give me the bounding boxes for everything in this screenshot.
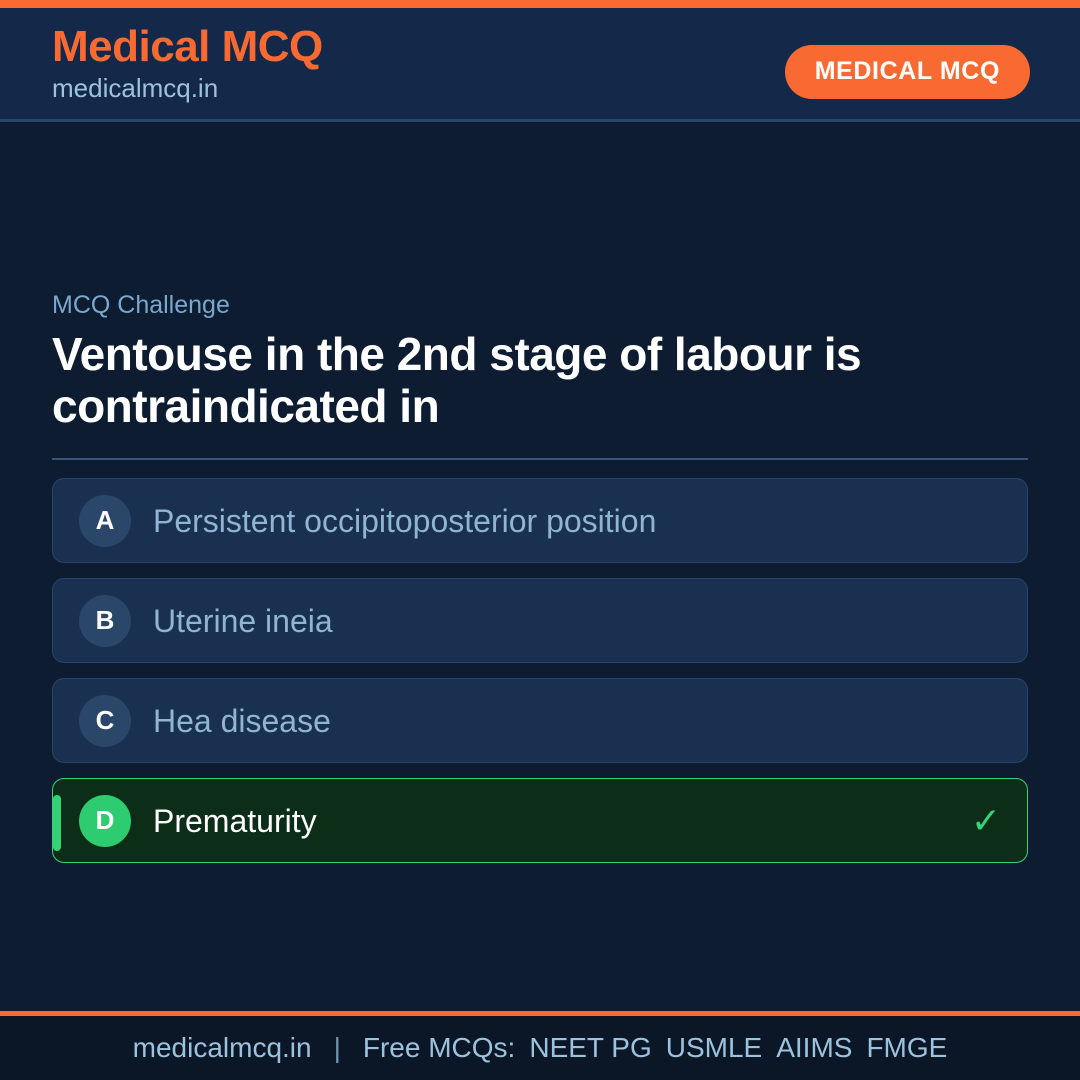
header-bar: Medical MCQ medicalmcq.in MEDICAL MCQ — [0, 8, 1080, 120]
header-badge: MEDICAL MCQ — [785, 45, 1030, 99]
footer-exam-fmge: FMGE — [866, 1031, 947, 1065]
mcq-card: Medical MCQ medicalmcq.in MEDICAL MCQ MC… — [0, 0, 1080, 1080]
option-d[interactable]: D Prematurity ✓ — [52, 778, 1028, 863]
option-letter-badge: D — [79, 795, 131, 847]
option-a[interactable]: A Persistent occipitoposterior position — [52, 478, 1028, 563]
brand-subtitle: medicalmcq.in — [52, 72, 323, 104]
footer-site: medicalmcq.in — [133, 1031, 312, 1065]
footer-label: Free MCQs: — [363, 1031, 515, 1065]
footer-exam-aiims: AIIMS — [776, 1031, 852, 1065]
option-text: Hea disease — [153, 702, 1001, 740]
footer-bar: medicalmcq.in | Free MCQs: NEET PG USMLE… — [0, 1016, 1080, 1080]
brand-title: Medical MCQ — [52, 22, 323, 72]
question-divider — [52, 458, 1028, 460]
eyebrow-label: MCQ Challenge — [52, 290, 1028, 320]
correct-accent-bar — [53, 795, 61, 851]
options-list: A Persistent occipitoposterior position … — [52, 478, 1028, 878]
footer-exam-usmle: USMLE — [666, 1031, 762, 1065]
footer-content: medicalmcq.in | Free MCQs: NEET PG USMLE… — [133, 1031, 948, 1065]
header-divider — [0, 119, 1080, 122]
option-c[interactable]: C Hea disease — [52, 678, 1028, 763]
question-block: MCQ Challenge Ventouse in the 2nd stage … — [52, 290, 1028, 460]
option-text: Uterine ineia — [153, 602, 1001, 640]
option-letter-badge: A — [79, 495, 131, 547]
check-icon: ✓ — [971, 803, 1001, 839]
brand-block: Medical MCQ medicalmcq.in — [52, 22, 323, 104]
footer-exam-neet-pg: NEET PG — [529, 1031, 651, 1065]
option-b[interactable]: B Uterine ineia — [52, 578, 1028, 663]
option-letter-badge: C — [79, 695, 131, 747]
option-letter-badge: B — [79, 595, 131, 647]
option-text: Persistent occipitoposterior position — [153, 502, 1001, 540]
footer-separator: | — [334, 1031, 341, 1065]
top-accent-bar — [0, 0, 1080, 8]
question-text: Ventouse in the 2nd stage of labour is c… — [52, 328, 912, 432]
option-text: Prematurity — [153, 802, 959, 840]
